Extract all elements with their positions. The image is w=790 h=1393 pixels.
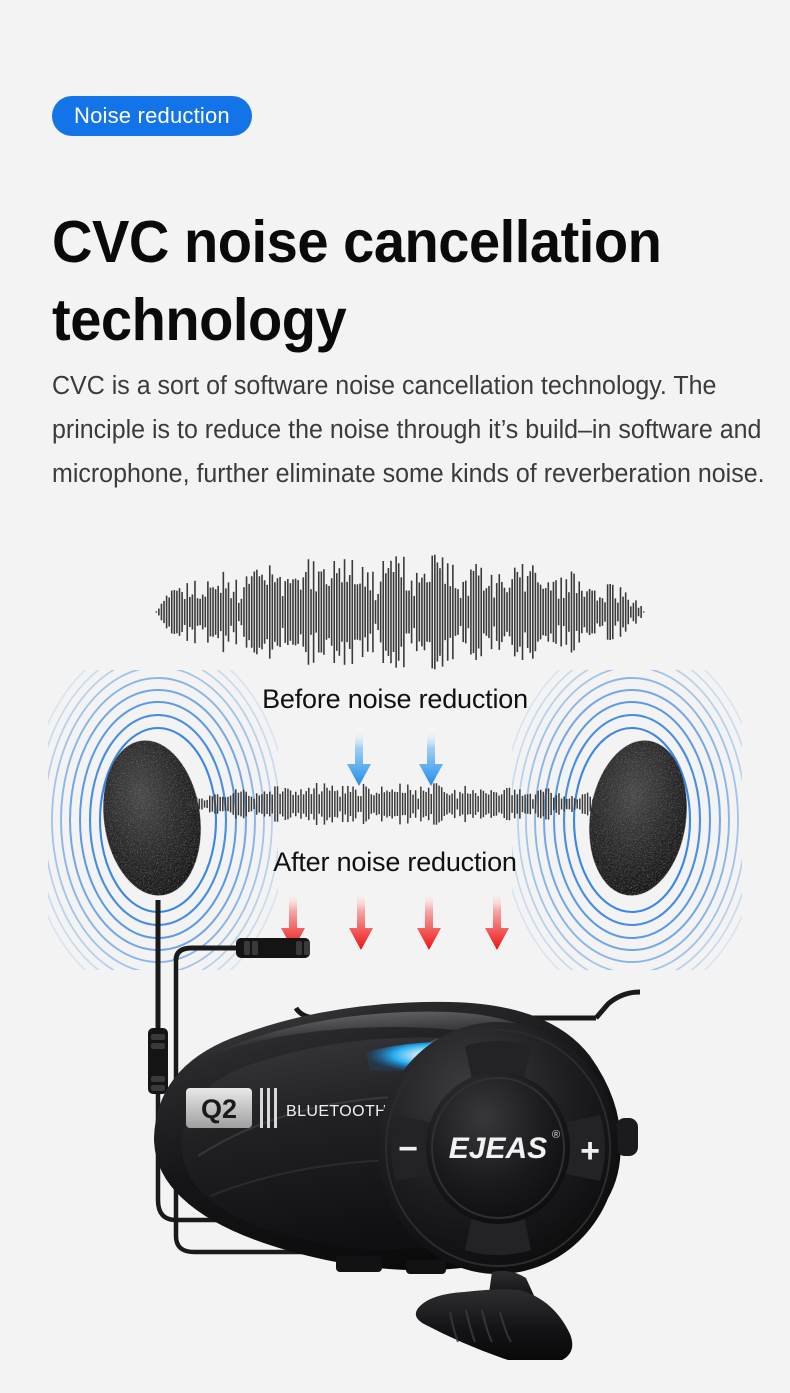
page-title: CVC noise cancellation technology: [52, 203, 717, 359]
microphone-boom: [416, 1271, 572, 1360]
mount-tab: [336, 1256, 382, 1272]
device-graphic: Q2 BLUETOOTH INTERCOM EJEAS: [120, 960, 680, 1360]
noise-reduction-badge: Noise reduction: [52, 96, 252, 136]
bluetooth-intercom-device: Q2 BLUETOOTH INTERCOM EJEAS: [120, 960, 680, 1360]
arrows-blue: [0, 728, 790, 786]
volume-up-button: +: [580, 1132, 600, 1170]
model-badge-text: Q2: [201, 1094, 237, 1124]
down-arrow-blue-icon: [344, 728, 374, 786]
control-dial: EJEAS ® − +: [378, 1022, 618, 1274]
label-after-noise-reduction: After noise reduction: [0, 847, 790, 878]
down-arrow-blue-icon: [416, 728, 446, 786]
cable-connector-upper: [236, 938, 310, 958]
badge-label: Noise reduction: [74, 103, 230, 129]
label-before-noise-reduction: Before noise reduction: [0, 684, 790, 715]
volume-down-button: −: [398, 1130, 418, 1168]
illustration-stage: Before noise reduction After noise reduc…: [0, 520, 790, 1393]
brand-mark: ®: [552, 1129, 560, 1141]
body-paragraph: CVC is a sort of software noise cancella…: [52, 364, 777, 496]
waveform-before-graphic: [155, 552, 645, 672]
side-button: [616, 1118, 638, 1156]
waveform-before: [155, 552, 645, 672]
brand-logo-text: EJEAS: [449, 1132, 547, 1165]
mount-tab: [406, 1260, 446, 1274]
